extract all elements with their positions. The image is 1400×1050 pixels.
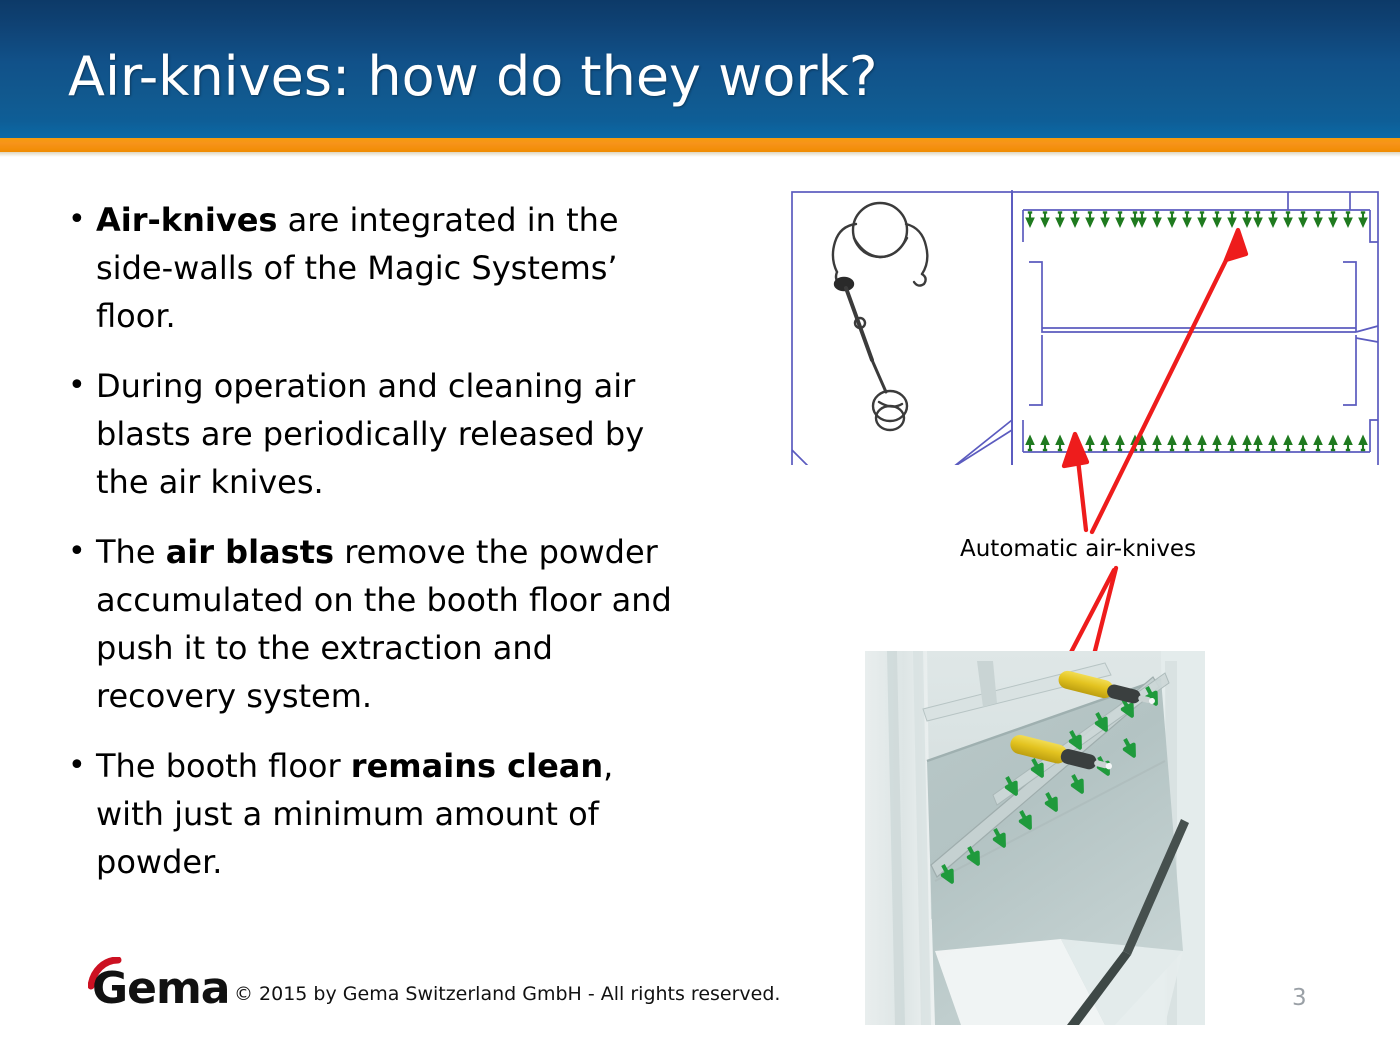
bullet-span: During operation and cleaning air blasts… <box>96 367 644 501</box>
header-accent-shadow <box>0 152 1400 157</box>
bullet-span: The <box>96 533 166 571</box>
booth-plan-view-drawing <box>780 180 1390 465</box>
page-number: 3 <box>1292 985 1307 1011</box>
figure-caption-automatic-air-knives: Automatic air-knives <box>960 535 1196 563</box>
bullet-marker-icon: • <box>62 362 96 410</box>
gema-logo: Gema <box>86 957 216 1015</box>
bullet-text: The air blasts remove the powder accumul… <box>96 528 672 720</box>
bullet-item: •The booth floor remains clean, with jus… <box>62 742 672 886</box>
bullet-text: The booth floor remains clean, with just… <box>96 742 672 886</box>
bullet-emphasis: air blasts <box>166 533 334 571</box>
bullet-marker-icon: • <box>62 196 96 244</box>
booth-interior-3d-render <box>865 651 1205 1025</box>
header-accent-bar <box>0 138 1400 152</box>
bullet-span: The booth floor <box>96 747 351 785</box>
bullet-text: During operation and cleaning air blasts… <box>96 362 672 506</box>
bullet-item: •Air-knives are integrated in the side-w… <box>62 196 672 340</box>
bullet-list: •Air-knives are integrated in the side-w… <box>62 196 672 908</box>
bullet-text: Air-knives are integrated in the side-wa… <box>96 196 672 340</box>
copyright-notice: © 2015 by Gema Switzerland GmbH - All ri… <box>234 982 780 1006</box>
bullet-marker-icon: • <box>62 742 96 790</box>
bullet-emphasis: remains clean <box>351 747 603 785</box>
page-title: Air-knives: how do they work? <box>68 46 878 108</box>
bullet-emphasis: Air-knives <box>96 201 277 239</box>
bullet-item: •During operation and cleaning air blast… <box>62 362 672 506</box>
gema-logo-text: Gema <box>92 967 230 1011</box>
bullet-item: •The air blasts remove the powder accumu… <box>62 528 672 720</box>
bullet-marker-icon: • <box>62 528 96 576</box>
